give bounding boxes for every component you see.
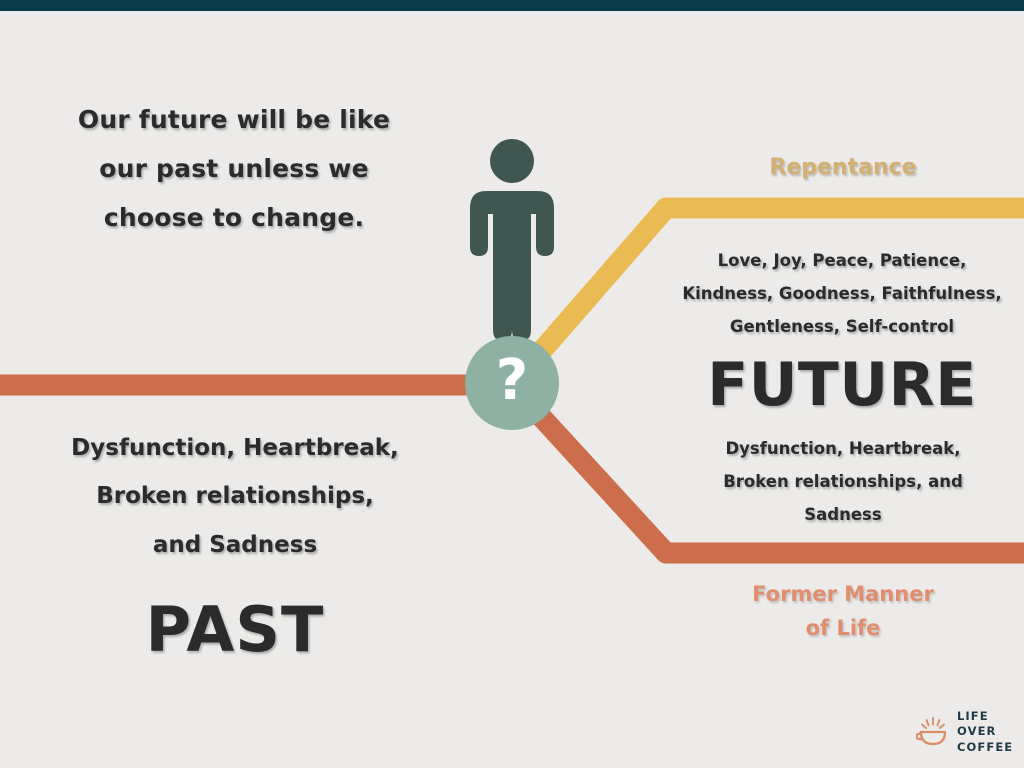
former-manner-description-text: Dysfunction, Heartbreak, Broken relation… xyxy=(680,432,1006,531)
standing-person-silhouette xyxy=(470,139,554,341)
past-description-text: Dysfunction, Heartbreak, Broken relation… xyxy=(32,424,438,569)
repentance-heading: Repentance xyxy=(690,152,996,184)
repentance-description-text: Love, Joy, Peace, Patience, Kindness, Go… xyxy=(672,244,1012,343)
logo-line-2: OVER xyxy=(957,724,1013,739)
former-manner-heading: Former Manner of Life xyxy=(690,578,996,645)
slide-canvas: ? Our future will be like our past unles… xyxy=(0,0,1024,768)
logo-line-3: COFFEE xyxy=(957,740,1013,755)
headline-text: Our future will be like our past unless … xyxy=(44,96,424,242)
question-mark-label: ? xyxy=(465,336,559,430)
coffee-cup-icon xyxy=(916,715,950,749)
brand-logo: LIFE OVER COFFEE xyxy=(916,707,1016,757)
logo-line-1: LIFE xyxy=(957,709,1013,724)
future-heading: FUTURE xyxy=(672,352,1012,418)
past-heading: PAST xyxy=(32,596,438,664)
brand-logo-wordmark: LIFE OVER COFFEE xyxy=(957,709,1013,755)
